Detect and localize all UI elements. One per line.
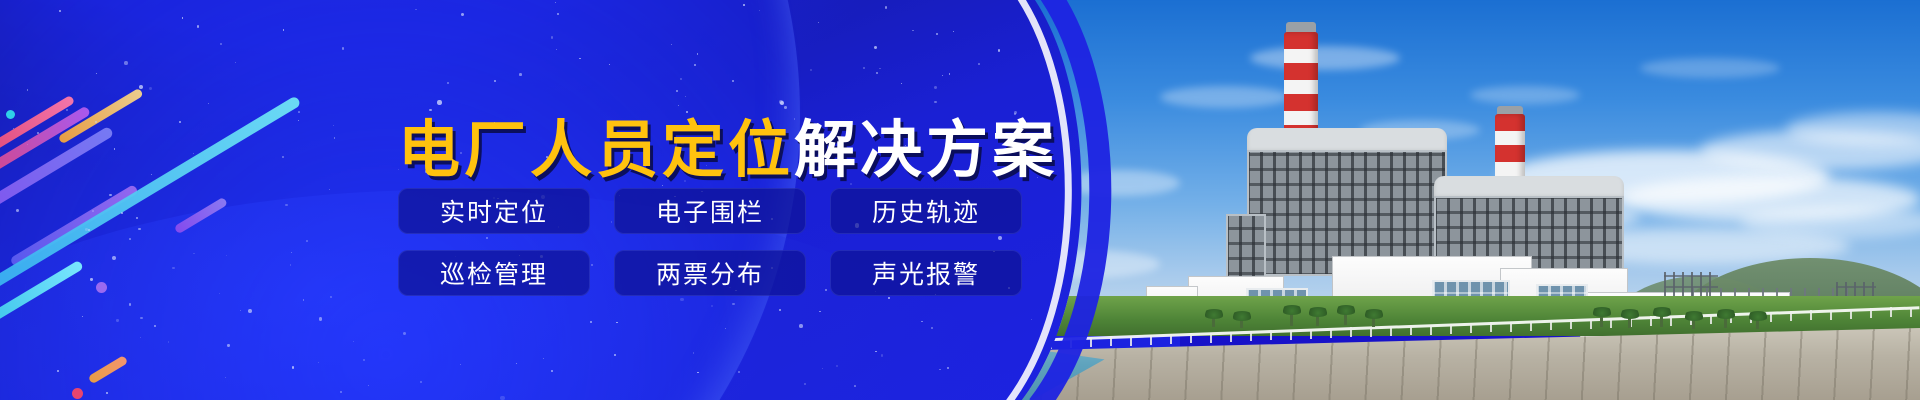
rail-post: [1570, 319, 1572, 329]
feature-pill[interactable]: 两票分布: [614, 250, 806, 296]
rail-post: [1330, 328, 1332, 338]
rail-post: [1590, 319, 1592, 329]
rail-post: [1190, 333, 1192, 343]
rail-post: [1270, 330, 1272, 340]
promo-banner: 电厂人员定位解决方案 实时定位电子围栏历史轨迹巡检管理两票分布声光报警: [0, 0, 1920, 400]
feature-pill[interactable]: 实时定位: [398, 188, 590, 234]
feature-pill-row: 实时定位电子围栏历史轨迹: [398, 188, 1022, 234]
palm-tree: [1628, 316, 1631, 328]
palm-tree: [1290, 312, 1293, 326]
rail-post: [1830, 310, 1832, 320]
palm-tree: [1692, 318, 1695, 329]
rail-post: [1530, 321, 1532, 331]
cloud: [1640, 58, 1780, 78]
feature-pill[interactable]: 声光报警: [830, 250, 1022, 296]
rail-post: [1470, 323, 1472, 333]
rail-post: [1350, 327, 1352, 337]
rail-post: [1890, 307, 1892, 317]
rail-post: [1430, 325, 1432, 335]
rail-post: [1610, 318, 1612, 328]
palm-tree: [1372, 316, 1375, 327]
palm-tree: [1600, 314, 1603, 327]
feature-pill[interactable]: 历史轨迹: [830, 188, 1022, 234]
rail-post: [1670, 316, 1672, 326]
rail-post: [1250, 331, 1252, 341]
rail-post: [1390, 326, 1392, 336]
rail-post: [1490, 322, 1492, 332]
rail-post: [1910, 307, 1912, 317]
palm-tree: [1344, 312, 1347, 325]
rail-post: [1210, 333, 1212, 343]
rail-post: [1790, 311, 1792, 321]
rail-post: [1310, 329, 1312, 339]
palm-tree: [1724, 316, 1727, 328]
rail-post: [1450, 324, 1452, 334]
palm-tree: [1316, 314, 1319, 326]
rail-post: [1230, 332, 1232, 342]
rail-post: [1870, 308, 1872, 318]
rail-post: [1710, 314, 1712, 324]
banner-content: 电厂人员定位解决方案 实时定位电子围栏历史轨迹巡检管理两票分布声光报警: [0, 0, 1180, 400]
rail-post: [1410, 325, 1412, 335]
rail-post: [1510, 322, 1512, 332]
rail-post: [1770, 312, 1772, 322]
title-plain: 解决方案: [794, 116, 1058, 185]
palm-tree: [1660, 314, 1663, 327]
rail-post: [1550, 320, 1552, 330]
cloud: [1470, 86, 1580, 104]
feature-pill-group: 实时定位电子围栏历史轨迹巡检管理两票分布声光报警: [398, 188, 1022, 312]
feature-pill-row: 巡检管理两票分布声光报警: [398, 250, 1022, 296]
title-highlight: 电厂人员定位: [398, 116, 794, 185]
cloud: [1250, 46, 1400, 70]
rail-post: [1810, 310, 1812, 320]
palm-tree: [1212, 316, 1215, 327]
feature-pill[interactable]: 巡检管理: [398, 250, 590, 296]
rail-post: [1650, 316, 1652, 326]
rail-post: [1290, 330, 1292, 340]
palm-tree: [1240, 318, 1243, 328]
feature-pill[interactable]: 电子围栏: [614, 188, 806, 234]
rail-post: [1850, 309, 1852, 319]
page-title: 电厂人员定位解决方案: [398, 120, 1058, 182]
rail-post: [1370, 327, 1372, 337]
palm-tree: [1756, 318, 1759, 329]
